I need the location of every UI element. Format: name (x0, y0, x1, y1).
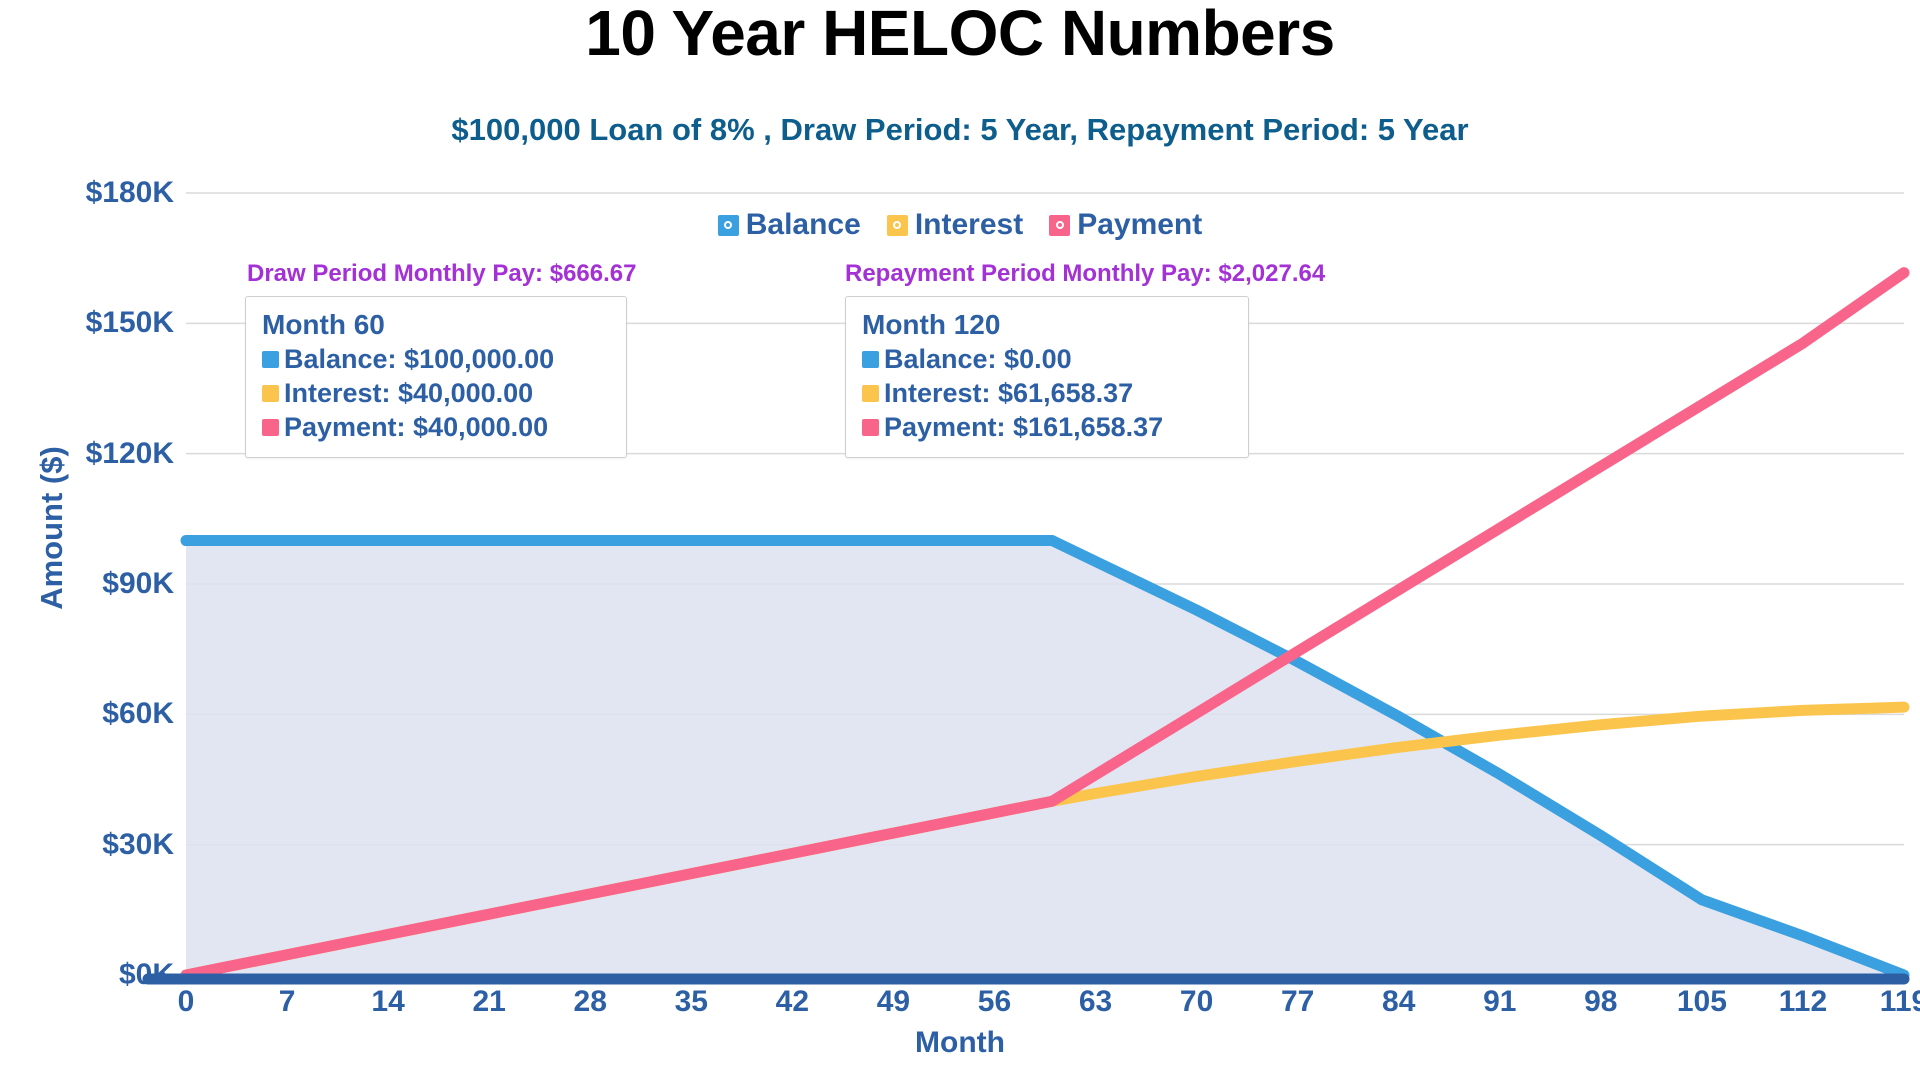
tooltip-row: Balance: $0.00 (862, 344, 1232, 375)
x-tick-label: 0 (178, 985, 195, 1019)
x-tick-label: 105 (1677, 985, 1727, 1019)
tooltip-value-balance: Balance: $0.00 (884, 344, 1072, 375)
chart-plot-area (0, 0, 1920, 1080)
x-tick-label: 63 (1079, 985, 1112, 1019)
x-tick-label: 21 (472, 985, 505, 1019)
tooltip-row: Balance: $100,000.00 (262, 344, 610, 375)
y-tick-label: $120K (0, 437, 174, 471)
y-tick-label: $60K (0, 697, 174, 731)
x-tick-label: 98 (1584, 985, 1617, 1019)
x-tick-label: 70 (1180, 985, 1213, 1019)
x-tick-label: 42 (776, 985, 809, 1019)
tooltip-swatch-balance-icon (862, 351, 879, 368)
tooltip-title: Month 120 (862, 309, 1232, 341)
tooltip-value-interest: Interest: $40,000.00 (284, 378, 533, 409)
tooltip-swatch-balance-icon (262, 351, 279, 368)
x-tick-label: 35 (675, 985, 708, 1019)
tooltip-value-payment: Payment: $40,000.00 (284, 412, 548, 443)
tooltip-row: Payment: $161,658.37 (862, 412, 1232, 443)
x-tick-label: 49 (877, 985, 910, 1019)
tooltip-swatch-interest-icon (262, 385, 279, 402)
x-tick-label: 28 (574, 985, 607, 1019)
tooltip-swatch-payment-icon (862, 419, 879, 436)
x-tick-label: 56 (978, 985, 1011, 1019)
tooltip-title: Month 60 (262, 309, 610, 341)
tooltip-row: Payment: $40,000.00 (262, 412, 610, 443)
x-tick-label: 84 (1382, 985, 1415, 1019)
tooltip-month-120: Month 120 Balance: $0.00 Interest: $61,6… (845, 296, 1249, 458)
tooltip-row: Interest: $40,000.00 (262, 378, 610, 409)
tooltip-row: Interest: $61,658.37 (862, 378, 1232, 409)
y-tick-label: $150K (0, 306, 174, 340)
x-tick-label: 91 (1483, 985, 1516, 1019)
x-axis-title: Month (0, 1026, 1920, 1060)
y-tick-label: $30K (0, 828, 174, 862)
x-tick-label: 7 (279, 985, 296, 1019)
tooltip-swatch-interest-icon (862, 385, 879, 402)
x-tick-label: 77 (1281, 985, 1314, 1019)
tooltip-value-balance: Balance: $100,000.00 (284, 344, 554, 375)
y-tick-label: $90K (0, 567, 174, 601)
y-tick-label: $0K (0, 958, 174, 992)
y-tick-label: $180K (0, 176, 174, 210)
tooltip-value-interest: Interest: $61,658.37 (884, 378, 1133, 409)
tooltip-value-payment: Payment: $161,658.37 (884, 412, 1163, 443)
tooltip-swatch-payment-icon (262, 419, 279, 436)
x-tick-label: 14 (371, 985, 404, 1019)
x-tick-label: 112 (1779, 985, 1827, 1019)
tooltip-month-60: Month 60 Balance: $100,000.00 Interest: … (245, 296, 627, 458)
x-tick-label: 119 (1880, 985, 1920, 1019)
